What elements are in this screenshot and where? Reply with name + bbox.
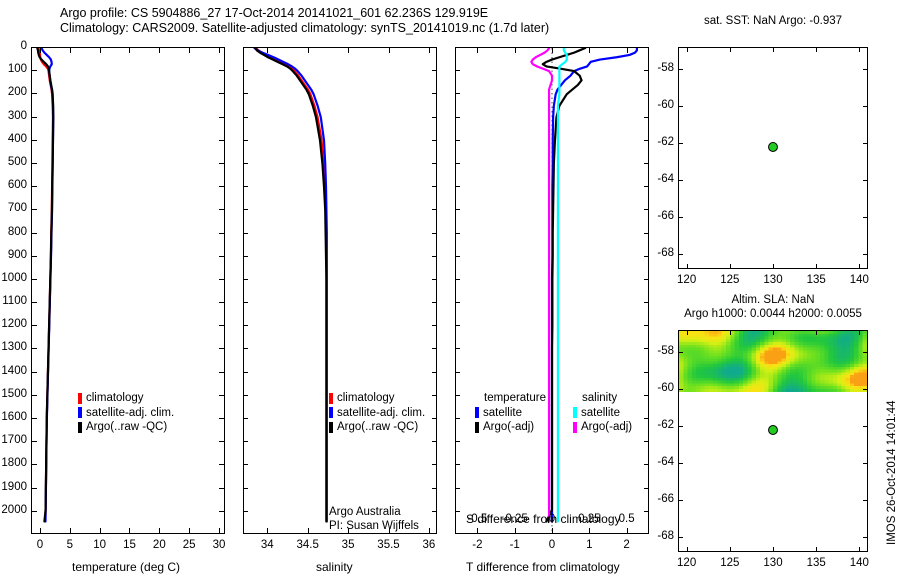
axis-tick: [31, 488, 37, 489]
axis-tick: [40, 528, 41, 534]
legend-label: Argo(-adj): [581, 420, 632, 435]
axis-tick: [31, 441, 37, 442]
axis-tick: [243, 186, 248, 187]
axis-tick-label: -60: [657, 100, 674, 112]
axis-tick: [644, 511, 649, 512]
axis-tick: [644, 209, 649, 210]
axis-tick: [40, 47, 41, 53]
axis-tick: [644, 464, 649, 465]
axis-tick: [31, 209, 37, 210]
axis-tick: [455, 256, 460, 257]
axis-tick: [243, 348, 248, 349]
axis-tick: [432, 488, 437, 489]
axis-tick-label: 1400: [1, 366, 27, 378]
axis-tick: [243, 511, 248, 512]
axis-tick: [816, 547, 817, 552]
axis-tick: [627, 47, 628, 53]
axis-tick: [100, 47, 101, 53]
axis-tick-label: 130: [763, 558, 782, 570]
axis-tick: [644, 418, 649, 419]
axis-tick: [243, 256, 248, 257]
axis-tick: [31, 464, 37, 465]
axis-tick: [31, 70, 37, 71]
sla-map-plot-area: [679, 331, 867, 551]
axis-tick: [644, 47, 649, 48]
axis-tick: [730, 264, 731, 269]
axis-tick: [863, 254, 868, 255]
legend-swatch-satellite-adj: [78, 407, 82, 418]
axis-tick: [432, 441, 437, 442]
axis-tick-label: -68: [657, 531, 674, 543]
legend-heading-temperature: temperature: [484, 391, 546, 406]
axis-tick: [687, 330, 688, 335]
axis-tick: [243, 163, 248, 164]
axis-tick-label: 2000: [1, 505, 27, 517]
legend-label: satellite: [483, 406, 522, 421]
legend-label: satellite: [581, 406, 620, 421]
axis-tick: [859, 547, 860, 552]
legend-swatch-argo-raw: [329, 422, 333, 433]
axis-tick-label: 5: [67, 540, 73, 552]
axis-tick: [455, 325, 460, 326]
axis-tick: [31, 325, 37, 326]
axis-tick-label: 1000: [1, 273, 27, 285]
axis-tick: [816, 264, 817, 269]
axis-tick: [678, 106, 683, 107]
axis-tick: [678, 426, 683, 427]
axis-tick-label: -60: [657, 383, 674, 395]
axis-tick-label: 400: [8, 134, 27, 146]
axis-tick: [644, 372, 649, 373]
axis-tick: [243, 395, 248, 396]
axis-tick-label: 700: [8, 203, 27, 215]
axis-tick: [432, 325, 437, 326]
legend-item: climatology: [329, 391, 425, 406]
axis-tick-label: 1600: [1, 412, 27, 424]
axis-tick: [219, 511, 225, 512]
axis-tick: [243, 140, 248, 141]
axis-tick: [687, 47, 688, 52]
axis-tick-label: 0.5: [619, 514, 635, 526]
axis-tick: [429, 47, 430, 53]
legend-heading-row: salinity: [573, 391, 632, 406]
axis-tick: [644, 117, 649, 118]
legend-swatch-t-satellite: [475, 407, 479, 418]
figure-title: Argo profile: CS 5904886_27 17-Oct-2014 …: [60, 6, 680, 36]
axis-tick: [589, 47, 590, 53]
axis-tick: [31, 117, 37, 118]
axis-tick: [644, 395, 649, 396]
axis-tick: [455, 302, 460, 303]
axis-tick: [129, 528, 130, 534]
axis-tick-label: 25: [183, 540, 196, 552]
axis-tick: [859, 47, 860, 52]
axis-tick-label: 15: [123, 540, 136, 552]
axis-tick-label: 1500: [1, 389, 27, 401]
legend-item: Argo(..raw -QC): [329, 420, 425, 435]
axis-tick: [455, 233, 460, 234]
axis-tick: [455, 418, 460, 419]
axis-tick: [678, 537, 683, 538]
salinity-xlabel: salinity: [316, 560, 353, 574]
axis-tick: [773, 547, 774, 552]
axis-tick: [678, 143, 683, 144]
axis-tick: [644, 441, 649, 442]
axis-tick: [243, 209, 248, 210]
temperature-plot-area: [32, 48, 224, 533]
axis-tick-label: 1200: [1, 319, 27, 331]
axis-tick: [515, 47, 516, 53]
difference-legend-temperature: temperature satellite Argo(-adj): [475, 391, 546, 435]
axis-tick: [31, 163, 37, 164]
title-line-1: Argo profile: CS 5904886_27 17-Oct-2014 …: [60, 6, 680, 21]
axis-tick: [219, 256, 225, 257]
difference-legend-salinity: salinity satellite Argo(-adj): [573, 391, 632, 435]
axis-tick: [31, 302, 37, 303]
axis-tick: [644, 348, 649, 349]
axis-tick: [70, 528, 71, 534]
axis-tick: [863, 143, 868, 144]
axis-tick-label: 100: [8, 64, 27, 76]
axis-tick: [219, 209, 225, 210]
axis-tick-label: 1100: [2, 296, 27, 308]
legend-item: satellite: [573, 406, 632, 421]
legend-item: Argo(-adj): [475, 420, 546, 435]
axis-tick: [432, 140, 437, 141]
salinity-footnote: Argo Australia PI: Susan Wijffels: [329, 505, 419, 533]
axis-tick: [219, 70, 225, 71]
axis-tick: [863, 500, 868, 501]
axis-tick: [863, 217, 868, 218]
axis-tick: [219, 528, 220, 534]
axis-tick: [308, 528, 309, 534]
axis-tick: [644, 186, 649, 187]
title-line-2: Climatology: CARS2009. Satellite-adjuste…: [60, 21, 680, 36]
legend-swatch-t-argo-adj: [475, 422, 479, 433]
axis-tick: [644, 279, 649, 280]
axis-tick-label: 36: [423, 540, 436, 552]
axis-tick: [100, 528, 101, 534]
axis-tick: [432, 395, 437, 396]
legend-swatch-climatology: [78, 393, 82, 404]
legend-item: Argo(-adj): [573, 420, 632, 435]
footnote-line-1: Argo Australia: [329, 505, 419, 519]
axis-tick: [432, 186, 437, 187]
axis-tick: [863, 389, 868, 390]
axis-tick: [31, 186, 37, 187]
legend-label: satellite-adj. clim.: [86, 406, 174, 421]
axis-tick: [219, 441, 225, 442]
axis-tick: [678, 254, 683, 255]
axis-tick-label: 125: [720, 558, 739, 570]
imos-timestamp: IMOS 26-Oct-2014 14:01:44: [886, 401, 898, 545]
axis-tick-label: 800: [8, 227, 27, 239]
axis-tick: [552, 47, 553, 53]
axis-tick-label: 140: [850, 558, 869, 570]
legend-label: climatology: [86, 391, 144, 406]
axis-tick: [477, 528, 478, 534]
axis-tick: [267, 47, 268, 53]
axis-tick-label: 0: [21, 41, 27, 53]
axis-tick: [477, 47, 478, 53]
axis-tick: [432, 163, 437, 164]
legend-item: climatology: [78, 391, 174, 406]
axis-tick-label: -58: [657, 346, 674, 358]
axis-tick: [863, 69, 868, 70]
axis-tick: [219, 163, 225, 164]
axis-tick: [70, 47, 71, 53]
axis-tick: [31, 511, 37, 512]
axis-tick: [730, 547, 731, 552]
legend-item: satellite-adj. clim.: [78, 406, 174, 421]
temperature-panel: [31, 47, 225, 534]
axis-tick-label: 140: [850, 275, 869, 287]
axis-tick-label: 120: [677, 558, 696, 570]
legend-swatch-s-argo-adj: [573, 422, 577, 433]
axis-tick: [863, 180, 868, 181]
axis-tick: [432, 47, 437, 48]
legend-item: Argo(..raw -QC): [78, 420, 174, 435]
difference-t-axis-label: T difference from climatology: [466, 560, 620, 574]
legend-swatch-satellite-adj: [329, 407, 333, 418]
axis-tick-label: 900: [8, 250, 27, 262]
axis-tick: [863, 426, 868, 427]
axis-tick-label: 120: [677, 275, 696, 287]
axis-tick-label: -62: [657, 420, 674, 432]
axis-tick-label: 500: [8, 157, 27, 169]
legend-heading-salinity: salinity: [582, 391, 617, 406]
axis-tick: [627, 528, 628, 534]
sla-heatmap: [679, 331, 867, 392]
axis-tick: [219, 395, 225, 396]
axis-tick-label: 1700: [1, 435, 27, 447]
axis-tick-label: 200: [8, 87, 27, 99]
axis-tick: [863, 463, 868, 464]
axis-tick-label: 125: [720, 275, 739, 287]
sla-map-panel: [678, 330, 868, 552]
sla-map-title: Altim. SLA: NaN: [678, 293, 868, 307]
axis-tick-label: 30: [213, 540, 226, 552]
axis-tick: [644, 488, 649, 489]
legend-label: Argo(..raw -QC): [86, 420, 167, 435]
axis-tick: [552, 528, 553, 534]
salinity-panel: [243, 47, 437, 534]
axis-tick: [432, 70, 437, 71]
legend-label: Argo(-adj): [483, 420, 534, 435]
axis-tick: [455, 186, 460, 187]
axis-tick-label: -62: [657, 137, 674, 149]
axis-tick: [455, 488, 460, 489]
axis-tick: [687, 547, 688, 552]
axis-tick: [219, 488, 225, 489]
axis-tick: [243, 464, 248, 465]
axis-tick: [159, 47, 160, 53]
axis-tick: [243, 279, 248, 280]
axis-tick: [31, 418, 37, 419]
sla-map-subtitle: Argo h1000: 0.0044 h2000: 0.0055: [650, 307, 896, 321]
footnote-line-2: PI: Susan Wijffels: [329, 519, 419, 533]
axis-tick: [644, 140, 649, 141]
axis-tick: [644, 70, 649, 71]
axis-tick: [243, 117, 248, 118]
temperature-xlabel: temperature (deg C): [72, 560, 180, 574]
axis-tick: [31, 372, 37, 373]
axis-tick: [455, 70, 460, 71]
axis-tick: [773, 47, 774, 52]
axis-tick-label: 1: [586, 540, 592, 552]
axis-tick: [773, 330, 774, 335]
axis-tick: [429, 528, 430, 534]
axis-tick: [219, 233, 225, 234]
axis-tick-label: 600: [8, 180, 27, 192]
axis-tick-label: 1300: [1, 342, 27, 354]
legend-heading-row: temperature: [475, 391, 546, 406]
axis-tick: [432, 256, 437, 257]
axis-tick: [455, 140, 460, 141]
axis-tick: [189, 47, 190, 53]
axis-tick: [219, 93, 225, 94]
axis-tick: [219, 464, 225, 465]
axis-tick: [159, 528, 160, 534]
axis-tick: [455, 163, 460, 164]
axis-tick: [432, 93, 437, 94]
axis-tick: [678, 180, 683, 181]
axis-tick-label: 10: [93, 540, 106, 552]
difference-plot-area: [456, 48, 648, 533]
axis-tick: [644, 325, 649, 326]
axis-tick: [389, 47, 390, 53]
axis-tick: [678, 69, 683, 70]
legend-label: satellite-adj. clim.: [337, 406, 425, 421]
axis-tick: [863, 537, 868, 538]
axis-tick: [455, 395, 460, 396]
axis-tick: [455, 441, 460, 442]
axis-tick: [219, 418, 225, 419]
axis-tick: [644, 302, 649, 303]
axis-tick: [432, 302, 437, 303]
axis-tick: [455, 511, 460, 512]
legend-swatch-s-satellite: [573, 407, 577, 418]
axis-tick: [432, 511, 437, 512]
axis-tick: [243, 325, 248, 326]
axis-tick: [455, 47, 460, 48]
axis-tick-label: 135: [807, 558, 826, 570]
legend-item: satellite-adj. clim.: [329, 406, 425, 421]
axis-tick: [219, 140, 225, 141]
axis-tick: [730, 47, 731, 52]
axis-tick: [455, 117, 460, 118]
axis-tick: [432, 418, 437, 419]
temperature-legend: climatology satellite-adj. clim. Argo(..…: [78, 391, 174, 435]
legend-item: satellite: [475, 406, 546, 421]
axis-tick: [31, 348, 37, 349]
axis-tick-label: 130: [763, 275, 782, 287]
axis-tick-label: -64: [657, 457, 674, 469]
legend-swatch-argo-raw: [78, 422, 82, 433]
axis-tick-label: 135: [807, 275, 826, 287]
axis-tick: [219, 372, 225, 373]
sst-map-title: sat. SST: NaN Argo: -0.937: [678, 14, 868, 28]
axis-tick: [589, 528, 590, 534]
axis-tick-label: -58: [657, 63, 674, 75]
axis-tick-label: -66: [657, 211, 674, 223]
axis-tick: [219, 117, 225, 118]
legend-label: Argo(..raw -QC): [337, 420, 418, 435]
axis-tick-label: 2: [623, 540, 629, 552]
legend-label: climatology: [337, 391, 395, 406]
axis-tick: [31, 233, 37, 234]
axis-tick: [455, 464, 460, 465]
sst-map-plot-area: [679, 48, 867, 268]
axis-tick-label: 35.5: [377, 540, 399, 552]
axis-tick: [859, 264, 860, 269]
axis-tick: [219, 47, 225, 48]
difference-panel: [455, 47, 649, 534]
axis-tick: [644, 163, 649, 164]
axis-tick: [432, 348, 437, 349]
axis-tick: [243, 47, 248, 48]
axis-tick: [515, 528, 516, 534]
figure-canvas: Argo profile: CS 5904886_27 17-Oct-2014 …: [0, 0, 900, 580]
axis-tick-label: -2: [472, 540, 482, 552]
axis-tick-label: 34: [261, 540, 274, 552]
axis-tick: [243, 70, 248, 71]
axis-tick: [816, 47, 817, 52]
axis-tick: [432, 117, 437, 118]
axis-tick: [31, 93, 37, 94]
axis-tick: [687, 264, 688, 269]
axis-tick: [243, 93, 248, 94]
axis-tick-label: -1: [510, 540, 520, 552]
axis-tick: [348, 47, 349, 53]
axis-tick: [31, 47, 37, 48]
axis-tick: [31, 395, 37, 396]
axis-tick: [678, 500, 683, 501]
axis-tick: [773, 264, 774, 269]
axis-tick: [243, 372, 248, 373]
axis-tick: [816, 330, 817, 335]
axis-tick: [31, 140, 37, 141]
axis-tick: [219, 279, 225, 280]
axis-tick-label: 300: [8, 111, 27, 123]
axis-tick: [308, 47, 309, 53]
axis-tick: [455, 279, 460, 280]
axis-tick-label: 35: [342, 540, 355, 552]
axis-tick: [455, 348, 460, 349]
axis-tick: [219, 302, 225, 303]
legend-swatch-climatology: [329, 393, 333, 404]
salinity-legend: climatology satellite-adj. clim. Argo(..…: [329, 391, 425, 435]
axis-tick: [678, 217, 683, 218]
axis-tick: [219, 348, 225, 349]
axis-tick: [432, 209, 437, 210]
axis-tick: [432, 233, 437, 234]
axis-tick-label: 1800: [1, 458, 27, 470]
axis-tick: [859, 330, 860, 335]
axis-tick: [243, 418, 248, 419]
axis-tick: [432, 279, 437, 280]
axis-tick: [243, 441, 248, 442]
axis-tick: [243, 302, 248, 303]
axis-tick: [129, 47, 130, 53]
axis-tick: [678, 389, 683, 390]
axis-tick: [678, 463, 683, 464]
axis-tick: [678, 352, 683, 353]
difference-s-axis-label: S difference from climatology: [466, 512, 621, 526]
axis-tick: [267, 528, 268, 534]
axis-tick-label: -64: [657, 174, 674, 186]
axis-tick: [644, 233, 649, 234]
